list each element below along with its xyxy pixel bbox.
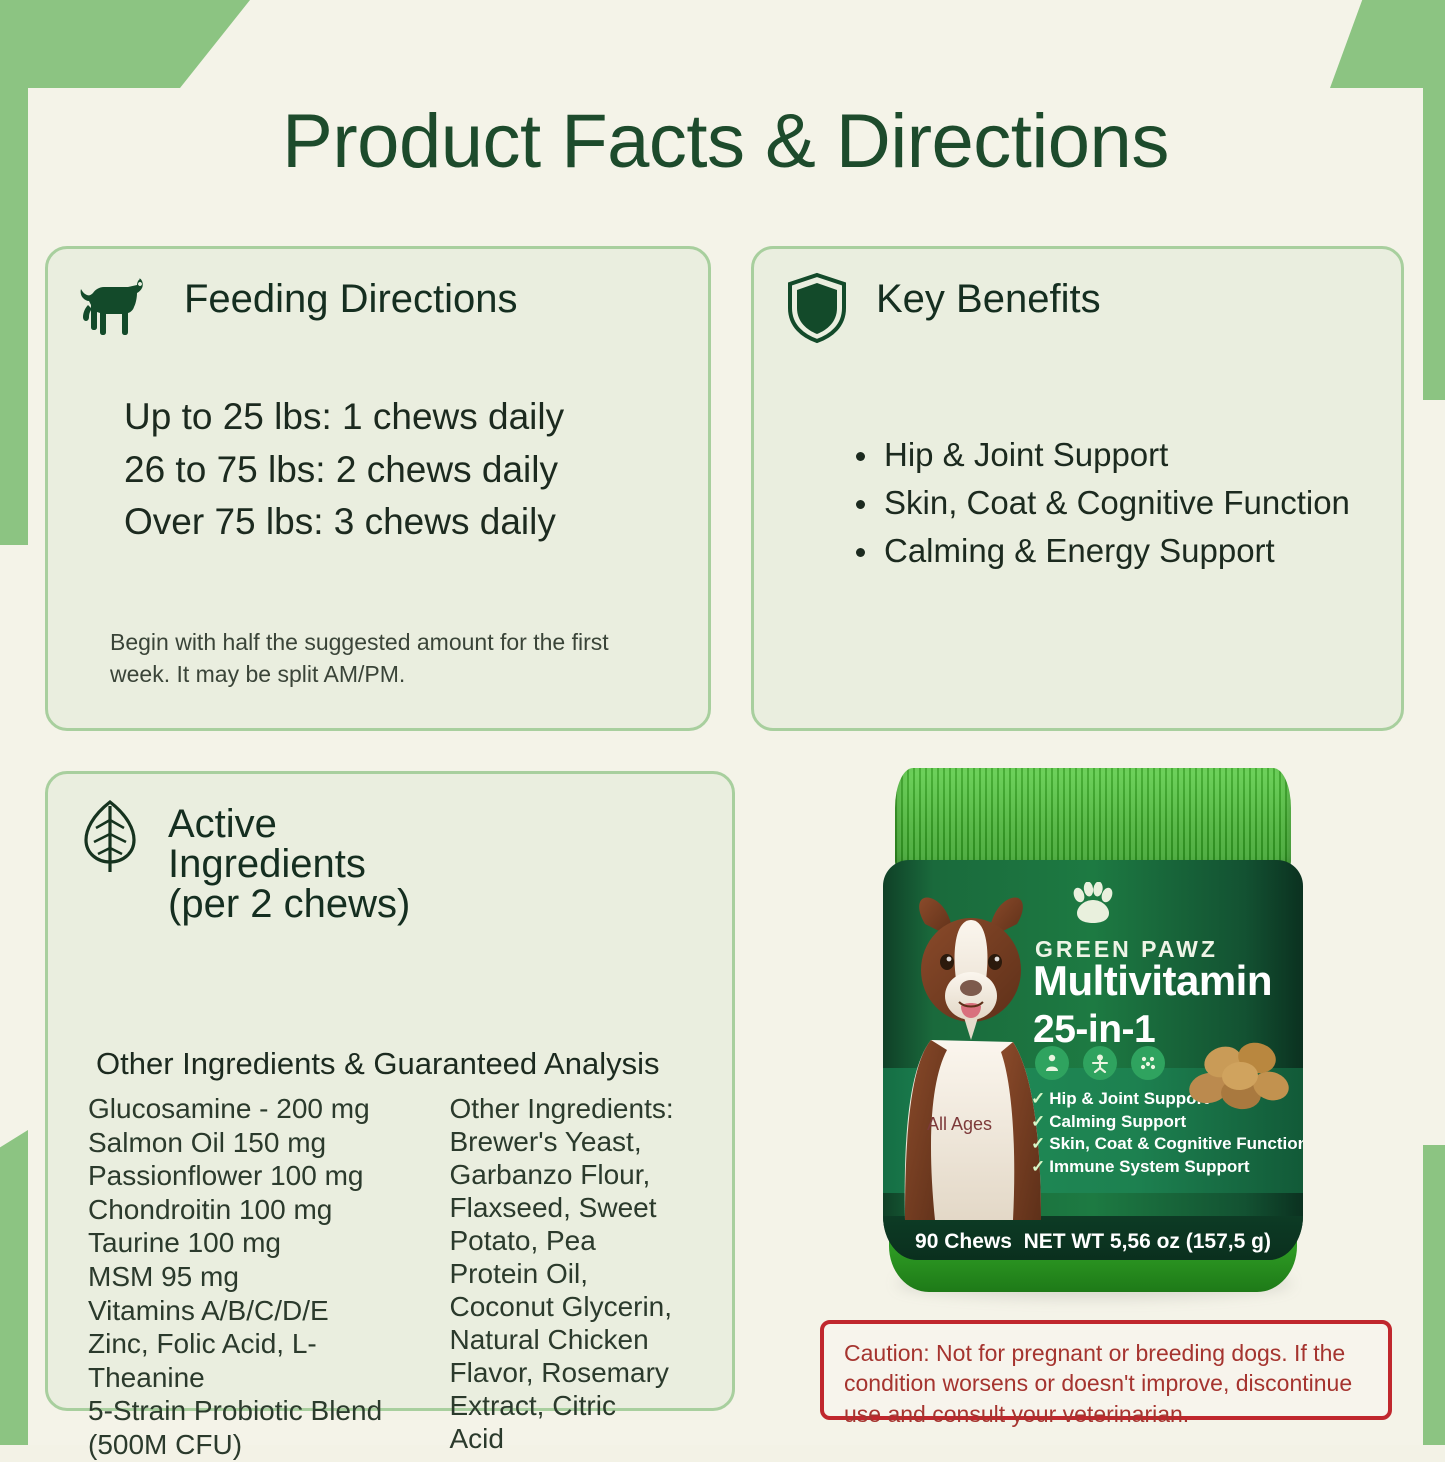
ingredient-line: Salmon Oil 150 mg bbox=[88, 1126, 432, 1160]
feeding-dosage-line: Up to 25 lbs: 1 chews daily bbox=[124, 391, 708, 444]
calming-icon bbox=[1083, 1046, 1117, 1080]
jar-age-badge: All Ages bbox=[927, 1114, 992, 1135]
ingredient-line: Acid bbox=[450, 1422, 717, 1455]
ingredients-columns: Glucosamine - 200 mg Salmon Oil 150 mg P… bbox=[88, 1092, 716, 1462]
jar-net-info: 90 Chews NET WT 5,56 oz (157,5 g) bbox=[883, 1230, 1303, 1254]
shield-icon bbox=[784, 271, 850, 345]
infographic-page: Product Facts & Directions Feeding Direc… bbox=[0, 0, 1445, 1445]
list-item: Skin, Coat & Cognitive Function bbox=[854, 483, 1401, 524]
check-icon: ✓ bbox=[1031, 1157, 1045, 1176]
list-item: Calming & Energy Support bbox=[854, 531, 1401, 572]
page-title: Product Facts & Directions bbox=[28, 98, 1423, 185]
active-card-header: Active Ingredients (per 2 chews) bbox=[48, 774, 732, 924]
jar-feature-icons bbox=[1035, 1046, 1165, 1080]
ingredient-line: Other Ingredients: bbox=[450, 1092, 717, 1125]
ingredient-line: Potato, Pea bbox=[450, 1224, 717, 1257]
ingredients-subheading: Other Ingredients & Guaranteed Analysis bbox=[96, 1046, 660, 1082]
product-jar-image: GREEN PAWZ Multivitamin 25-in-1 ✓Hip & J bbox=[883, 768, 1303, 1338]
list-item: Hip & Joint Support bbox=[854, 435, 1401, 476]
corner-accent-top-left bbox=[0, 0, 250, 88]
corner-accent-left-bar bbox=[0, 0, 28, 545]
active-title-line3: (per 2 chews) bbox=[168, 884, 410, 924]
other-ingredients-column: Other Ingredients: Brewer's Yeast, Garba… bbox=[450, 1092, 717, 1462]
jar-label: GREEN PAWZ Multivitamin 25-in-1 ✓Hip & J bbox=[883, 860, 1303, 1260]
ingredient-line: Protein Oil, bbox=[450, 1257, 717, 1290]
ingredient-line: Passionflower 100 mg bbox=[88, 1159, 432, 1193]
jar-chew-count: 90 Chews bbox=[915, 1230, 1012, 1253]
jar-product-name: Multivitamin bbox=[1033, 960, 1272, 1002]
immune-icon bbox=[1131, 1046, 1165, 1080]
ingredient-line: Flaxseed, Sweet bbox=[450, 1191, 717, 1224]
active-title-line2: Ingredients bbox=[168, 844, 410, 884]
benefits-card-title: Key Benefits bbox=[876, 271, 1101, 319]
dog-photo bbox=[891, 890, 1051, 1220]
jar-benefit-item: ✓Calming Support bbox=[1031, 1111, 1303, 1134]
active-card-title: Active Ingredients (per 2 chews) bbox=[168, 796, 410, 924]
jar-benefit-item: ✓Immune System Support bbox=[1031, 1156, 1303, 1179]
check-icon: ✓ bbox=[1031, 1134, 1045, 1153]
corner-accent-right-bar bbox=[1423, 0, 1445, 400]
jar-lid bbox=[895, 768, 1291, 873]
feeding-directions-card: Feeding Directions Up to 25 lbs: 1 chews… bbox=[45, 246, 711, 731]
check-icon: ✓ bbox=[1031, 1089, 1045, 1108]
chew-treats-image bbox=[1183, 1030, 1295, 1110]
check-icon: ✓ bbox=[1031, 1112, 1045, 1131]
benefits-card-header: Key Benefits bbox=[754, 249, 1401, 345]
jar-benefit-item: ✓Skin, Coat & Cognitive Function bbox=[1031, 1133, 1303, 1156]
feeding-note: Begin with half the suggested amount for… bbox=[110, 627, 650, 690]
benefits-list: Hip & Joint Support Skin, Coat & Cogniti… bbox=[754, 345, 1401, 572]
leaf-icon bbox=[78, 796, 142, 874]
feeding-dosage-line: Over 75 lbs: 3 chews daily bbox=[124, 496, 708, 549]
jar-net-weight: NET WT 5,56 oz (157,5 g) bbox=[1024, 1230, 1271, 1253]
ingredient-line: Flavor, Rosemary bbox=[450, 1356, 717, 1389]
ingredient-line: Extract, Citric bbox=[450, 1389, 717, 1422]
ingredient-line: Natural Chicken bbox=[450, 1323, 717, 1356]
ingredient-line: Brewer's Yeast, bbox=[450, 1125, 717, 1158]
ingredient-line: Vitamins A/B/C/D/E bbox=[88, 1294, 432, 1328]
ingredient-line: MSM 95 mg bbox=[88, 1260, 432, 1294]
feeding-dosage-line: 26 to 75 lbs: 2 chews daily bbox=[124, 444, 708, 497]
ingredient-line: Chondroitin 100 mg bbox=[88, 1193, 432, 1227]
paw-icon bbox=[1069, 882, 1117, 926]
ingredient-line: 5-Strain Probiotic Blend bbox=[88, 1394, 432, 1428]
key-benefits-card: Key Benefits Hip & Joint Support Skin, C… bbox=[751, 246, 1404, 731]
ingredient-line: Taurine 100 mg bbox=[88, 1226, 432, 1260]
content-area: Product Facts & Directions Feeding Direc… bbox=[28, 88, 1423, 1445]
active-ingredients-column: Glucosamine - 200 mg Salmon Oil 150 mg P… bbox=[88, 1092, 432, 1462]
caution-box: Caution: Not for pregnant or breeding do… bbox=[820, 1320, 1392, 1420]
active-ingredients-card: Active Ingredients (per 2 chews) Other I… bbox=[45, 771, 735, 1411]
ingredient-line: Zinc, Folic Acid, L- bbox=[88, 1327, 432, 1361]
active-title-line1: Active bbox=[168, 804, 410, 844]
dog-icon bbox=[78, 271, 158, 339]
joint-icon bbox=[1035, 1046, 1069, 1080]
ingredient-line: Glucosamine - 200 mg bbox=[88, 1092, 432, 1126]
feeding-dosage-list: Up to 25 lbs: 1 chews daily 26 to 75 lbs… bbox=[48, 339, 708, 549]
corner-accent-bottom-right bbox=[1423, 1145, 1445, 1445]
ingredient-line: Garbanzo Flour, bbox=[450, 1158, 717, 1191]
ingredient-line: Theanine bbox=[88, 1361, 432, 1395]
feeding-card-title: Feeding Directions bbox=[184, 271, 518, 319]
ingredient-line: Coconut Glycerin, bbox=[450, 1290, 717, 1323]
feeding-card-header: Feeding Directions bbox=[48, 249, 708, 339]
